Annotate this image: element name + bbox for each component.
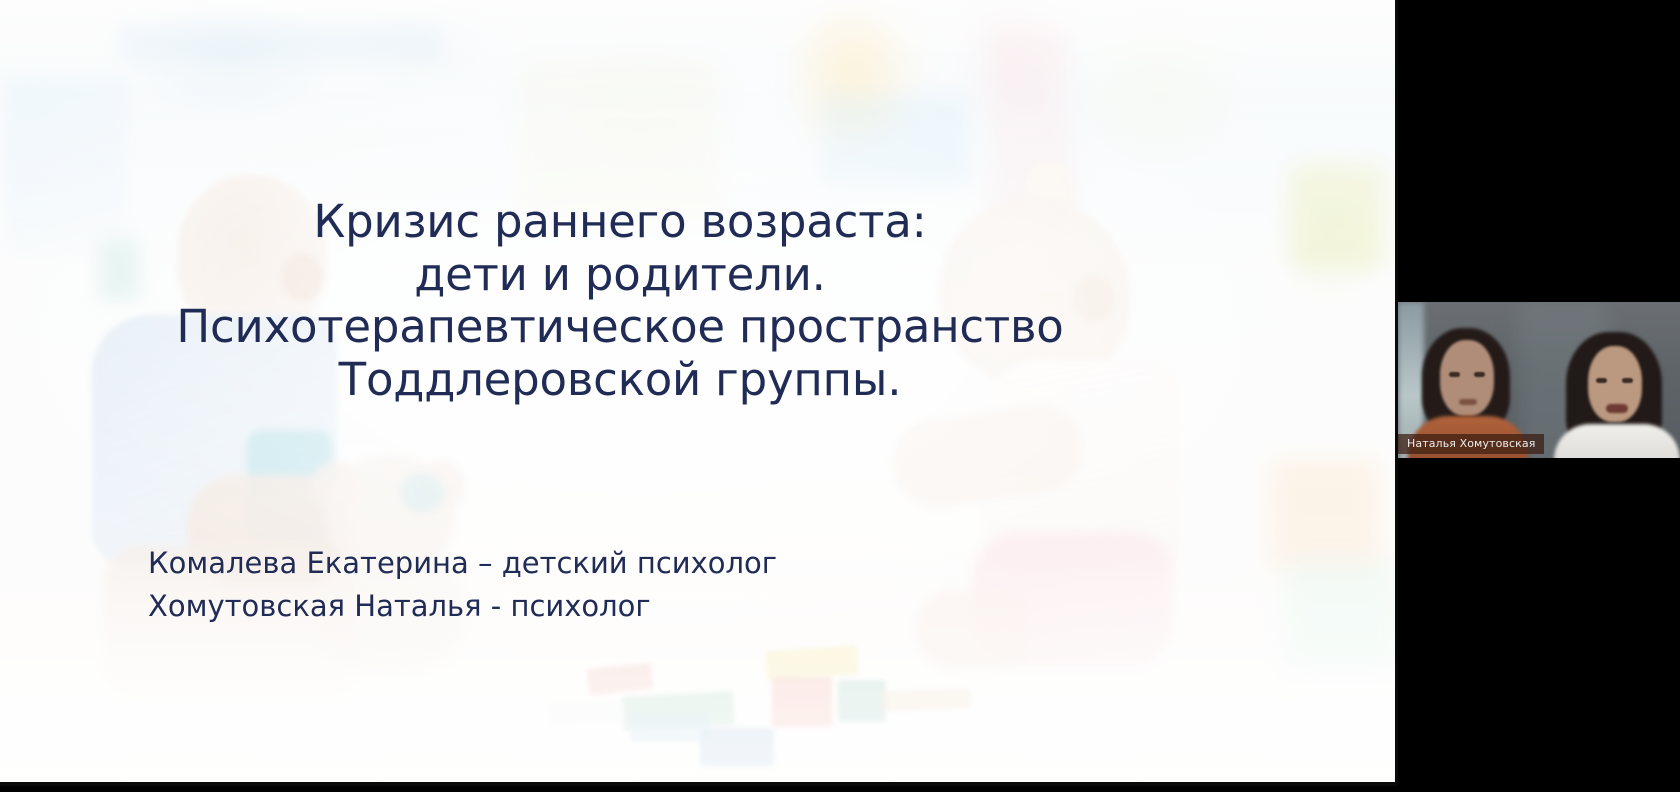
participant-name-badge: Наталья Хомутовская xyxy=(1398,434,1544,454)
participant-right-eye-right xyxy=(1622,378,1633,383)
participant-video-tile[interactable]: Наталья Хомутовская xyxy=(1398,302,1680,472)
participant-right-mouth xyxy=(1606,404,1628,413)
block-teal xyxy=(838,680,886,722)
slide-title: Кризис раннего возраста: дети и родители… xyxy=(0,196,1240,407)
participant-right-eye-left xyxy=(1596,378,1607,383)
background-mint-shape xyxy=(1285,560,1398,670)
presenter-line-1: Комалева Екатерина – детский психолог xyxy=(148,542,777,585)
block-coral xyxy=(772,677,832,727)
block-pink xyxy=(587,663,653,696)
plush-toy-patch xyxy=(400,473,444,513)
shared-screen-slide[interactable]: Кризис раннего возраста: дети и родители… xyxy=(0,0,1398,786)
slide-presenters: Комалева Екатерина – детский психолог Хо… xyxy=(148,542,777,628)
participant-left-mouth xyxy=(1459,399,1477,405)
webinar-screen: Кризис раннего возраста: дети и родители… xyxy=(0,0,1680,792)
block-yellow xyxy=(765,645,859,681)
background-green-shape xyxy=(1290,165,1385,270)
video-tile-bottom-bar xyxy=(1398,458,1680,472)
participant-left-eye-right xyxy=(1474,372,1485,377)
block-blue xyxy=(700,728,774,766)
background-orange-shape xyxy=(1270,460,1380,570)
toddler-girl-foot xyxy=(915,590,1025,670)
block-tan xyxy=(880,688,971,711)
block-white xyxy=(548,701,625,726)
participant-left-eye-left xyxy=(1449,372,1460,377)
presenter-line-2: Хомутовская Наталья - психолог xyxy=(148,585,777,628)
background-shelf xyxy=(120,24,440,62)
block-skyblue xyxy=(630,714,710,742)
